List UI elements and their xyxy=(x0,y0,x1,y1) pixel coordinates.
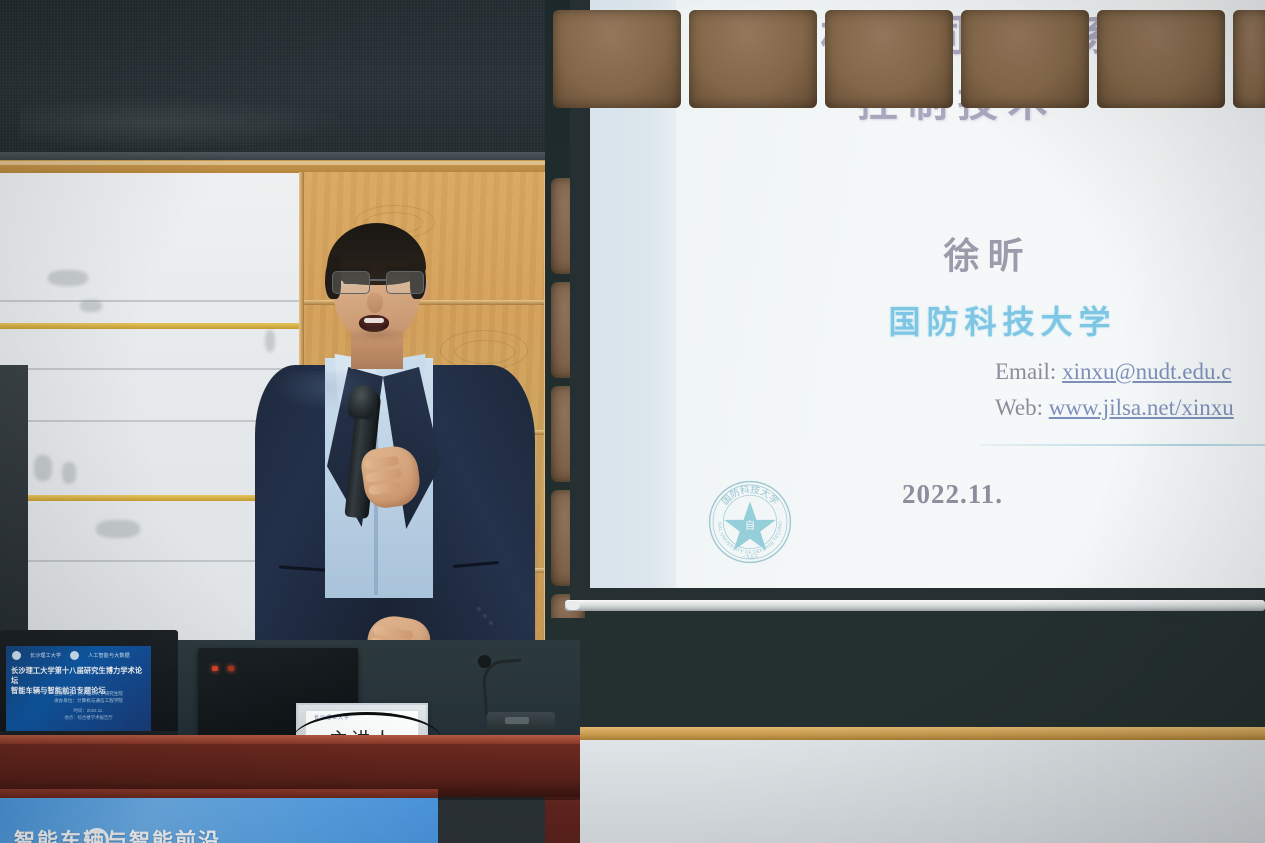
sleeve-button xyxy=(489,621,493,625)
slide-speaker-name: 徐昕 xyxy=(590,227,1265,279)
slide-date: 2022.11. xyxy=(590,479,1265,510)
svg-text:自: 自 xyxy=(745,519,755,532)
slide-organization: 国防科技大学 xyxy=(590,297,1265,343)
finger xyxy=(368,482,401,495)
blackboard xyxy=(0,0,594,160)
lower-acoustic-panel-row xyxy=(545,618,1265,736)
whiteboard-smudge xyxy=(48,270,88,286)
nose xyxy=(367,293,383,313)
laptop-banner-title-line-1: 长沙理工大学第十八届研究生博力学术论坛 xyxy=(11,666,149,686)
gooseneck-microphone-capsule xyxy=(478,655,491,668)
whiteboard-smudge xyxy=(96,520,140,538)
lecture-hall-scene: 人机协同驾驶系统的 控制技术 徐昕 国防科技大学 Email: xinxu@nu… xyxy=(0,0,1265,843)
whiteboard-smudge xyxy=(62,462,76,484)
blackboard-wood-highlight xyxy=(0,161,545,165)
acoustic-pad xyxy=(1233,10,1265,108)
wall-speaker-column xyxy=(0,365,28,650)
slide-web-value[interactable]: www.jilsa.net/xinxu xyxy=(1049,395,1234,420)
laptop-screen: 长沙理工大学 人工智能与大数据 长沙理工大学第十八届研究生博力学术论坛 智能车辆… xyxy=(6,646,151,731)
university-logo-icon xyxy=(12,651,21,660)
eyeglasses xyxy=(329,271,427,295)
finger xyxy=(365,469,402,483)
svg-text:一九五三: 一九五三 xyxy=(741,553,759,560)
acoustic-pad xyxy=(825,10,953,108)
whiteboard-smudge xyxy=(80,300,102,312)
bottom-banner-text: 智能车辆与智能前沿 xyxy=(14,825,221,843)
eyeglass-lens-right xyxy=(386,271,424,294)
acoustic-pad xyxy=(961,10,1089,108)
finger xyxy=(364,456,399,470)
slide-web-label: Web: xyxy=(995,395,1043,420)
microphone-mute-button[interactable] xyxy=(505,717,529,724)
chin-shadow xyxy=(341,327,413,343)
slide-divider-rule xyxy=(980,444,1265,446)
lower-gray-wall xyxy=(578,740,1265,843)
monitor-power-led xyxy=(212,666,218,671)
laptop-logo-right-text: 人工智能与大数据 xyxy=(88,652,130,659)
sleeve-button xyxy=(483,614,487,618)
lower-wall-wood-trim xyxy=(545,727,1265,740)
sleeve-button xyxy=(477,607,481,611)
gooseneck-microphone-arm xyxy=(481,659,525,716)
whiteboard-smudge xyxy=(34,455,52,481)
bottom-event-banner: 智能车辆与智能前沿 xyxy=(0,798,438,843)
slide-web-line: Web: www.jilsa.net/xinxu xyxy=(995,395,1234,421)
acoustic-pad xyxy=(553,10,681,108)
eyebrow-right xyxy=(385,266,417,270)
eyeglass-bridge xyxy=(370,279,386,281)
eyeglass-lens-left xyxy=(332,271,370,294)
acoustic-pad xyxy=(1097,10,1225,108)
laptop-banner-meta-line-2: 地点：综合楼学术报告厅 xyxy=(36,715,141,722)
projection-screen-pull-knob[interactable] xyxy=(566,601,580,610)
college-logo-icon xyxy=(70,651,79,660)
handheld-microphone-grille xyxy=(347,384,378,421)
acoustic-pad xyxy=(689,10,817,108)
laptop-banner-subtitle-line-2: 承办单位：计算机与通信工程学院 xyxy=(36,697,141,704)
projection-screen-roller-bar[interactable] xyxy=(565,600,1265,611)
monitor-status-led xyxy=(228,666,234,671)
slide-email-label: Email: xyxy=(995,359,1056,384)
laptop-banner-subtitle: 主办单位：长沙理工大学研究生院 承办单位：计算机与通信工程学院 xyxy=(36,690,141,704)
laptop-banner-meta: 时间：2022.11. 地点：综合楼学术报告厅 xyxy=(36,708,141,721)
slide-email-value[interactable]: xinxu@nudt.edu.c xyxy=(1062,359,1231,384)
laptop-banner-subtitle-line-1: 主办单位：长沙理工大学研究生院 xyxy=(36,690,141,697)
laptop-banner-logos: 长沙理工大学 人工智能与大数据 xyxy=(12,650,146,661)
laptop-logo-left-text: 长沙理工大学 xyxy=(30,652,61,659)
podium-desk-edge xyxy=(0,735,580,744)
slide-email-line: Email: xinxu@nudt.edu.c xyxy=(995,359,1231,385)
nudt-seal-icon: 国防科技大学 NATIONAL UNIVERSITY OF DEFENSE TE… xyxy=(707,479,793,565)
